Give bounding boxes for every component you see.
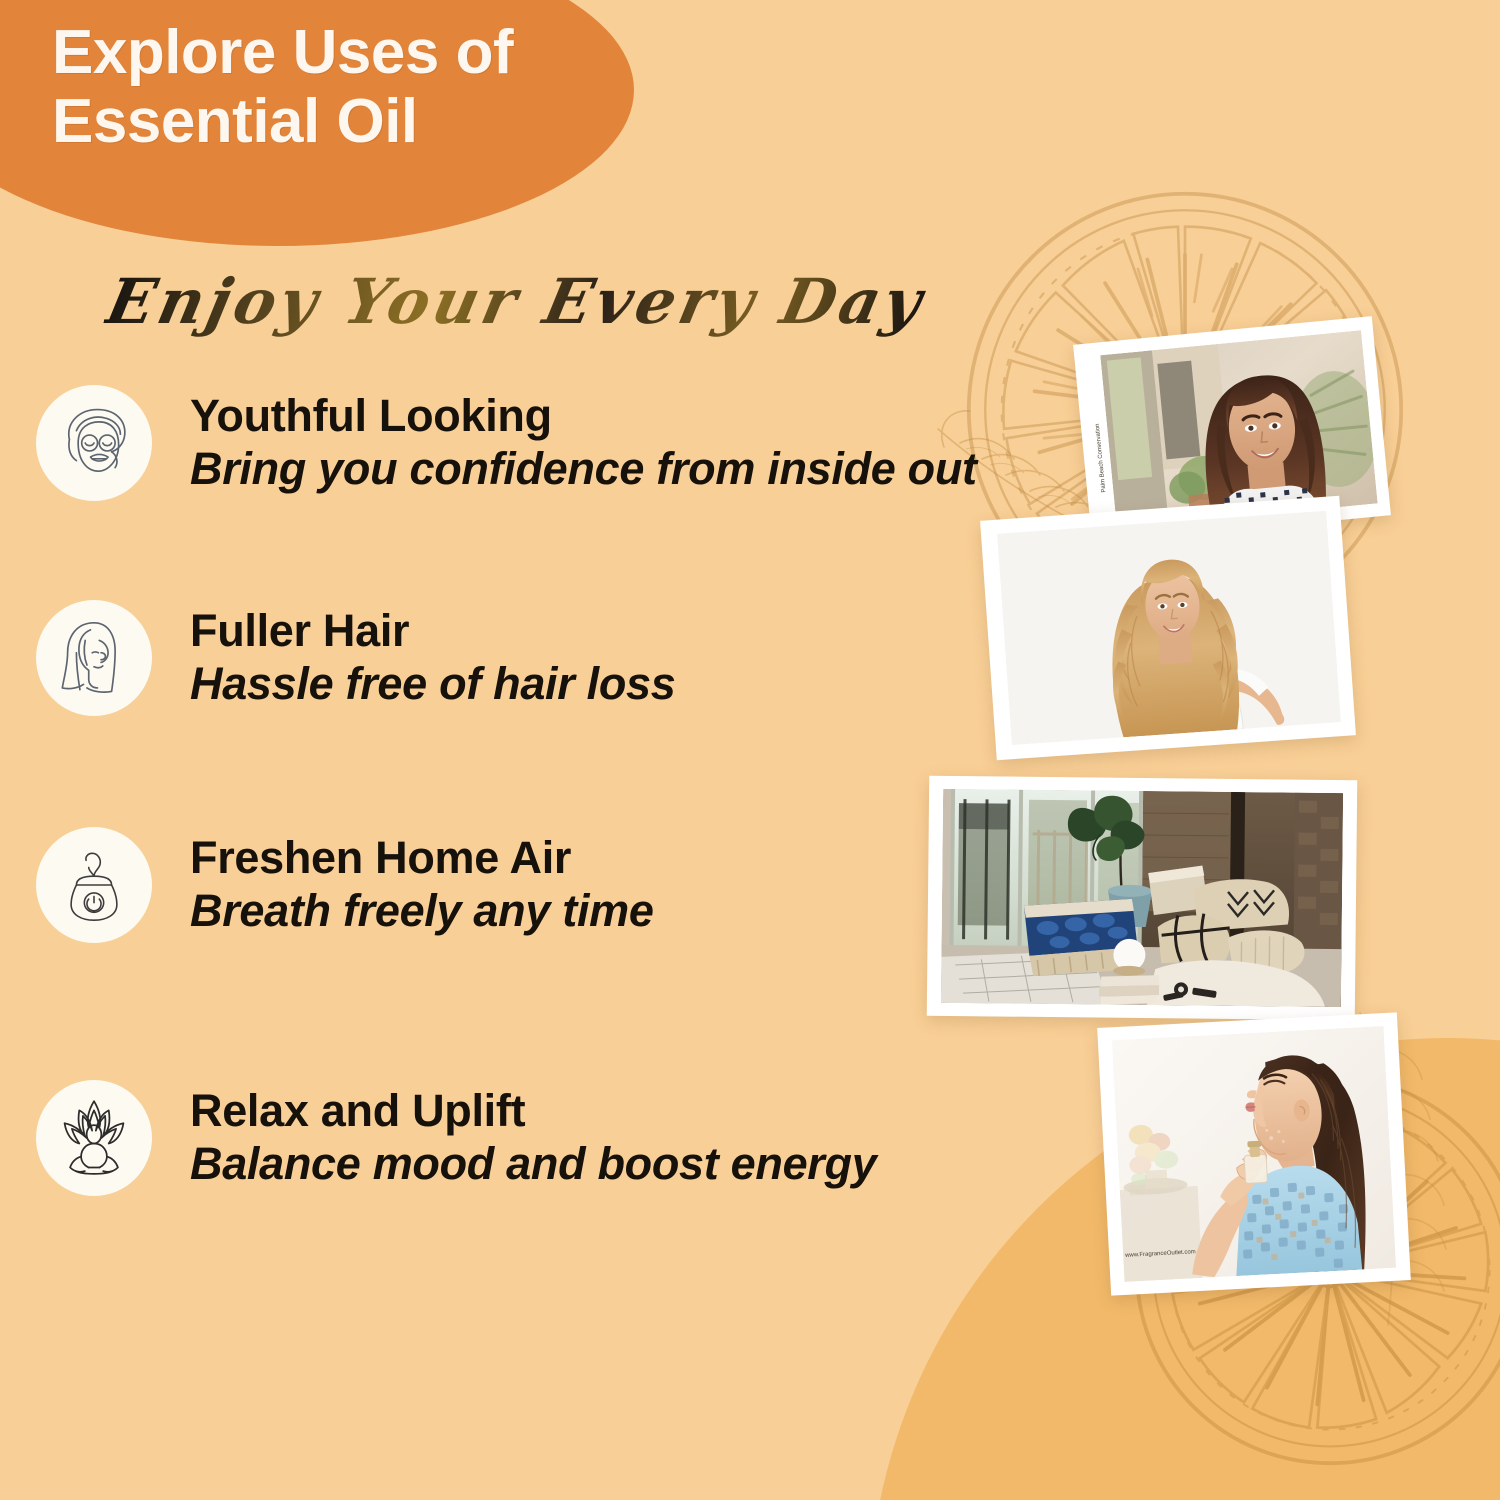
feature-subtitle: Hassle free of hair loss (190, 658, 676, 710)
tagline: Enjoy Your Every Day (100, 265, 932, 338)
feature-title: Relax and Uplift (190, 1086, 876, 1136)
photo-blonde-wavy-hair (980, 496, 1356, 761)
photo-image (997, 511, 1341, 746)
poster-canvas: Explore Uses of Essential Oil Enjoy Your… (0, 0, 1500, 1500)
photo-cozy-living-room (927, 776, 1357, 1020)
photo-image (941, 789, 1343, 1007)
feature-text-block: Youthful Looking Bring you confidence fr… (190, 391, 977, 496)
feature-item-fuller-hair: Fuller Hair Hassle free of hair loss (36, 600, 676, 716)
lotus-meditation-icon (36, 1080, 152, 1196)
page-title-line-2: Essential Oil (52, 87, 612, 156)
long-hair-profile-icon (36, 600, 152, 716)
aroma-diffuser-icon (36, 827, 152, 943)
photo-woman-applying-perfume: www.FragranceOutlet.com (1097, 1012, 1411, 1295)
feature-text-block: Freshen Home Air Breath freely any time (190, 833, 654, 938)
face-mask-icon (36, 385, 152, 501)
page-title: Explore Uses of Essential Oil (52, 18, 612, 157)
photo-watermark: Palm Beach Conservation (1095, 423, 1108, 493)
feature-text-block: Relax and Uplift Balance mood and boost … (190, 1086, 876, 1191)
feature-subtitle: Bring you confidence from inside out (190, 443, 977, 495)
page-title-line-1: Explore Uses of (52, 18, 612, 87)
feature-title: Freshen Home Air (190, 833, 654, 883)
feature-item-relax-and-uplift: Relax and Uplift Balance mood and boost … (36, 1080, 876, 1196)
feature-subtitle: Balance mood and boost energy (190, 1138, 876, 1190)
feature-title: Youthful Looking (190, 391, 977, 441)
feature-text-block: Fuller Hair Hassle free of hair loss (190, 606, 676, 711)
feature-title: Fuller Hair (190, 606, 676, 656)
feature-subtitle: Breath freely any time (190, 885, 654, 937)
photo-image (1112, 1026, 1396, 1282)
feature-item-youthful-looking: Youthful Looking Bring you confidence fr… (36, 385, 977, 501)
feature-item-freshen-home-air: Freshen Home Air Breath freely any time (36, 827, 654, 943)
